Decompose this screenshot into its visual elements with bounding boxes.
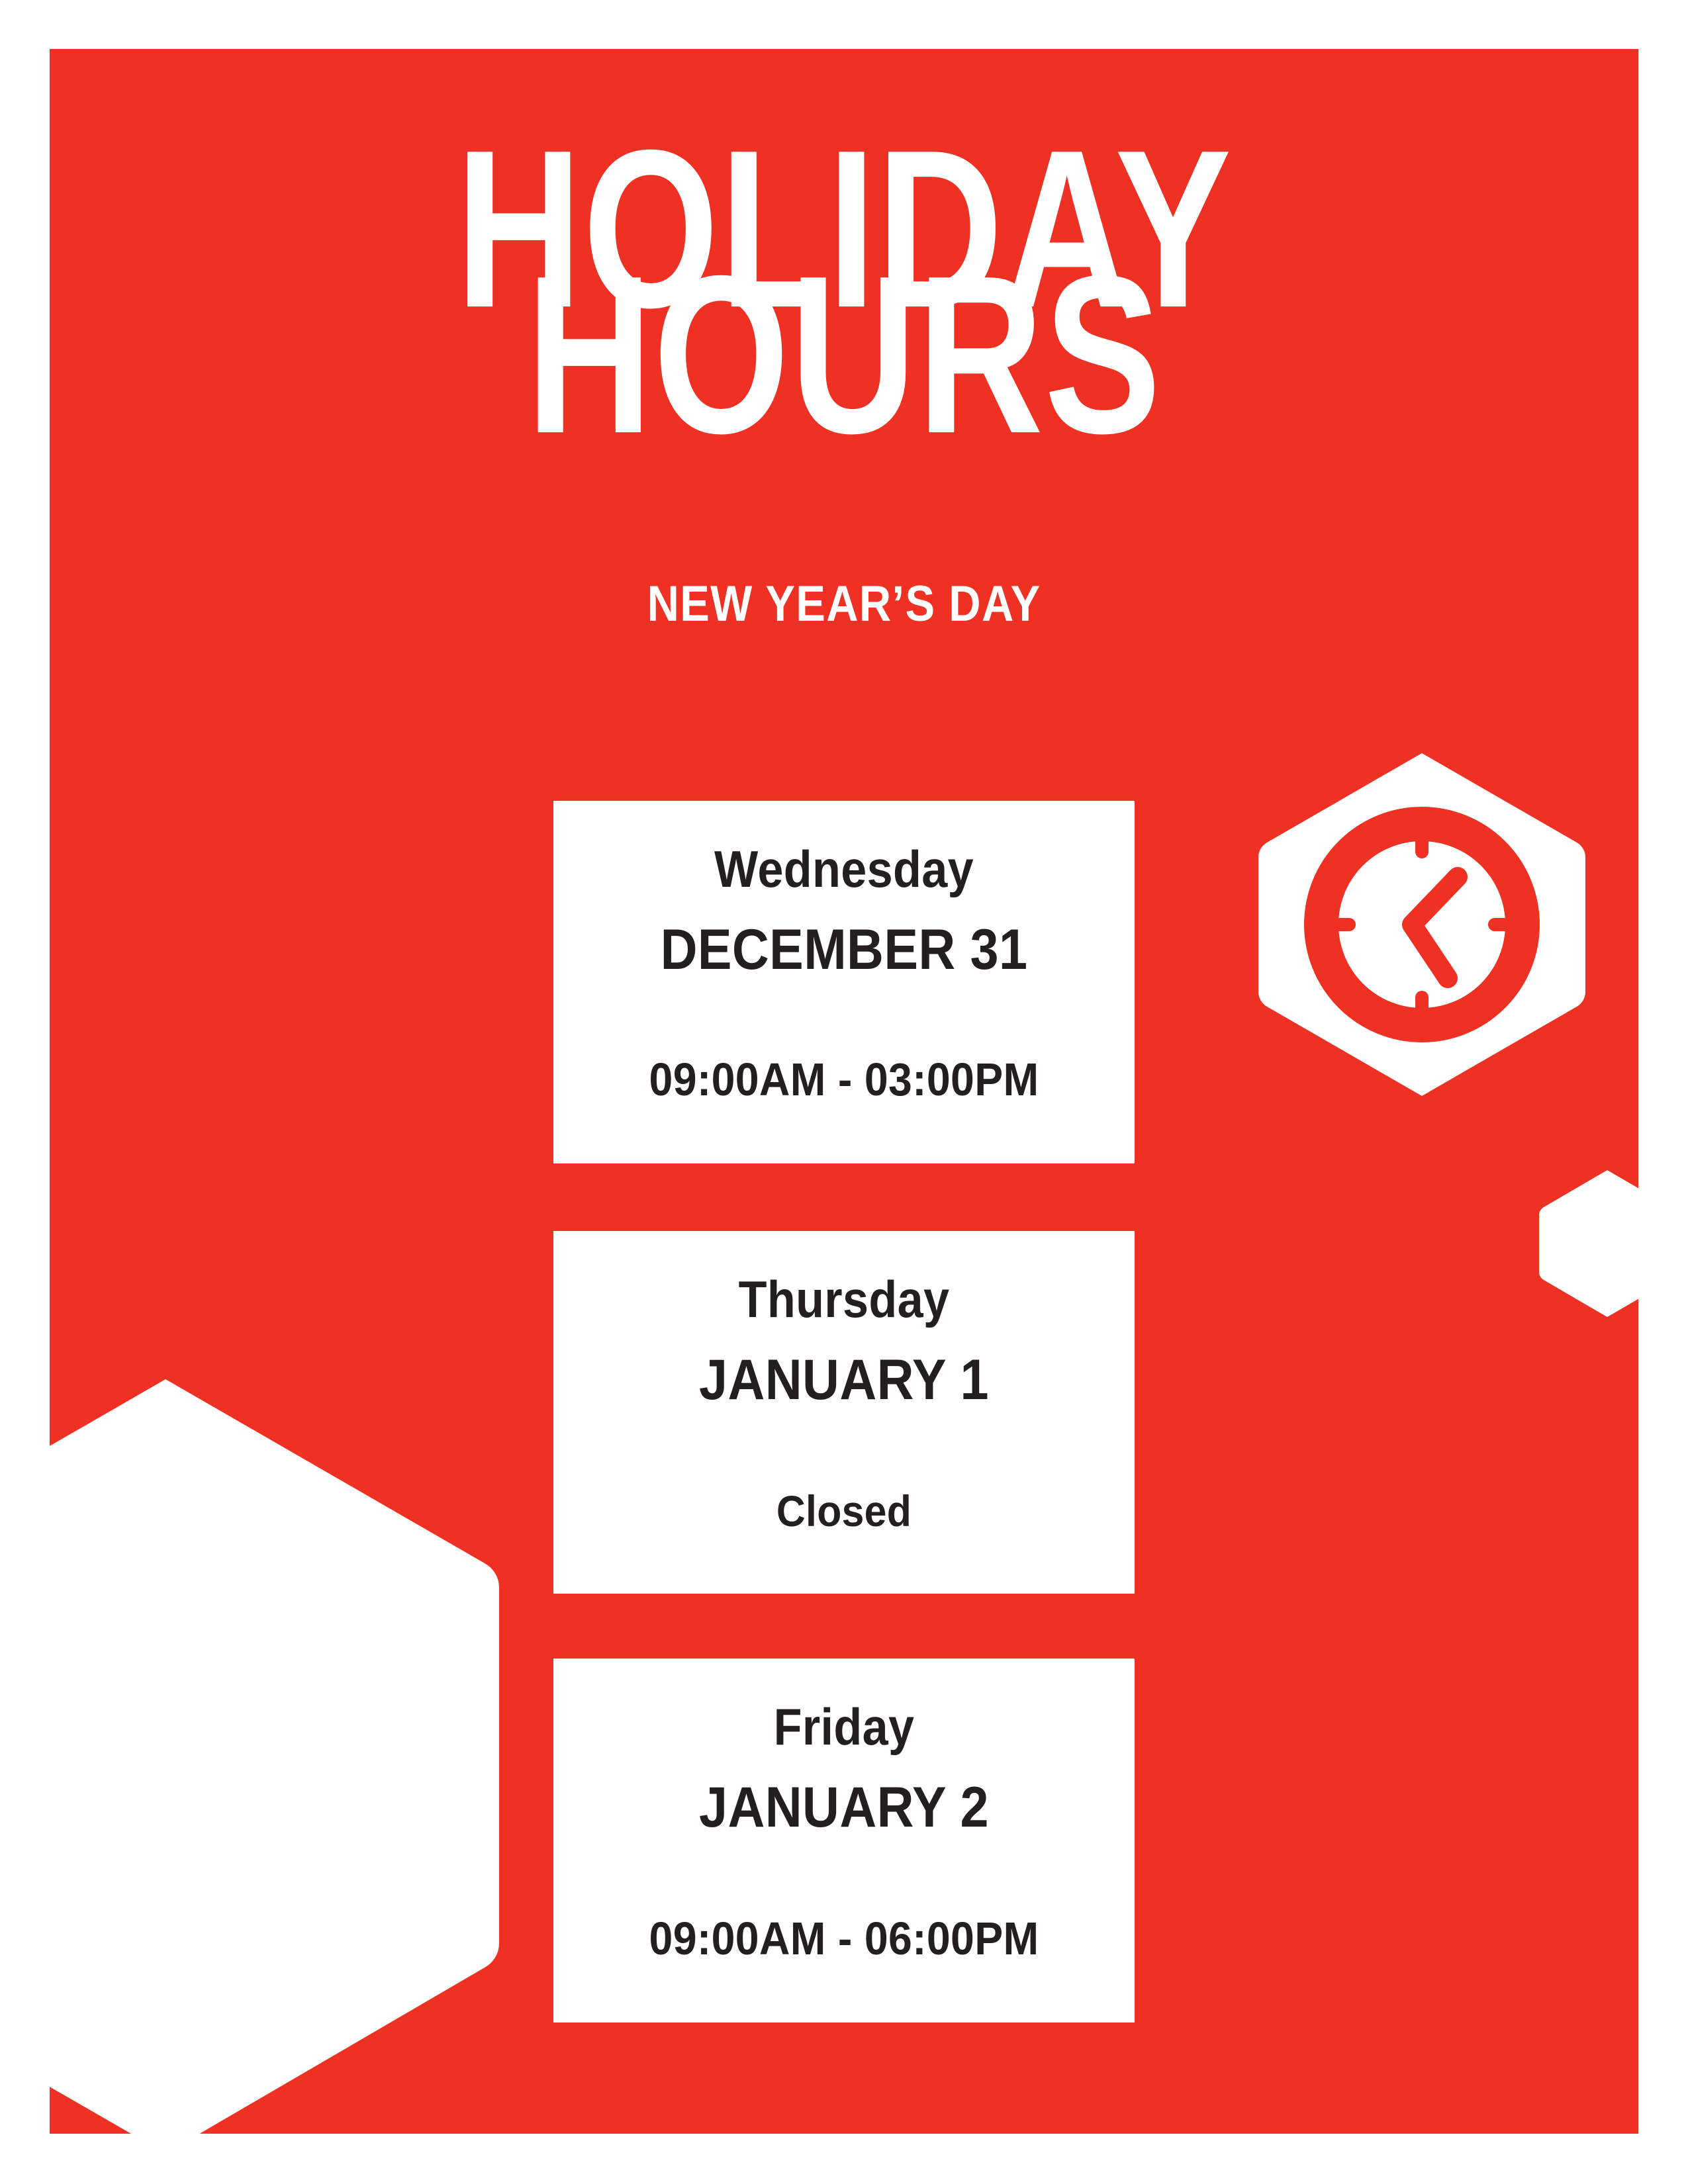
schedule-card-hours: 09:00AM - 03:00PM	[577, 1056, 1111, 1103]
schedule-card: Thursday JANUARY 1 Closed	[553, 1231, 1135, 1594]
schedule-card: Wednesday DECEMBER 31 09:00AM - 03:00PM	[553, 801, 1135, 1163]
clock-icon	[1251, 749, 1593, 1100]
schedule-card-day: Thursday	[583, 1231, 1105, 1325]
page-subtitle: NEW YEAR’S DAY	[145, 575, 1543, 633]
schedule-card-day: Wednesday	[583, 801, 1105, 895]
hexagon-shape-small	[1534, 1167, 1638, 1320]
holiday-hours-poster: HOLIDAY HOURS NEW YEAR’S DAY Wedne	[0, 0, 1688, 2184]
schedule-card-date: DECEMBER 31	[583, 895, 1105, 978]
schedule-card-hours: Closed	[577, 1489, 1111, 1533]
schedule-card-date: JANUARY 1	[583, 1325, 1105, 1408]
schedule-card: Friday JANUARY 2 09:00AM - 06:00PM	[553, 1659, 1135, 2023]
hexagon-shape-bottom-left	[50, 1373, 516, 2134]
hexagon-small-path	[1539, 1170, 1638, 1317]
hexagon-bottom-left-path	[50, 1379, 499, 2134]
schedule-card-date: JANUARY 2	[583, 1752, 1105, 1836]
schedule-card-day: Friday	[583, 1659, 1105, 1752]
page-title-line-2: HOURS	[209, 248, 1479, 461]
poster-background-panel: HOLIDAY HOURS NEW YEAR’S DAY Wedne	[50, 49, 1638, 2134]
schedule-card-hours: 09:00AM - 06:00PM	[577, 1915, 1111, 1962]
